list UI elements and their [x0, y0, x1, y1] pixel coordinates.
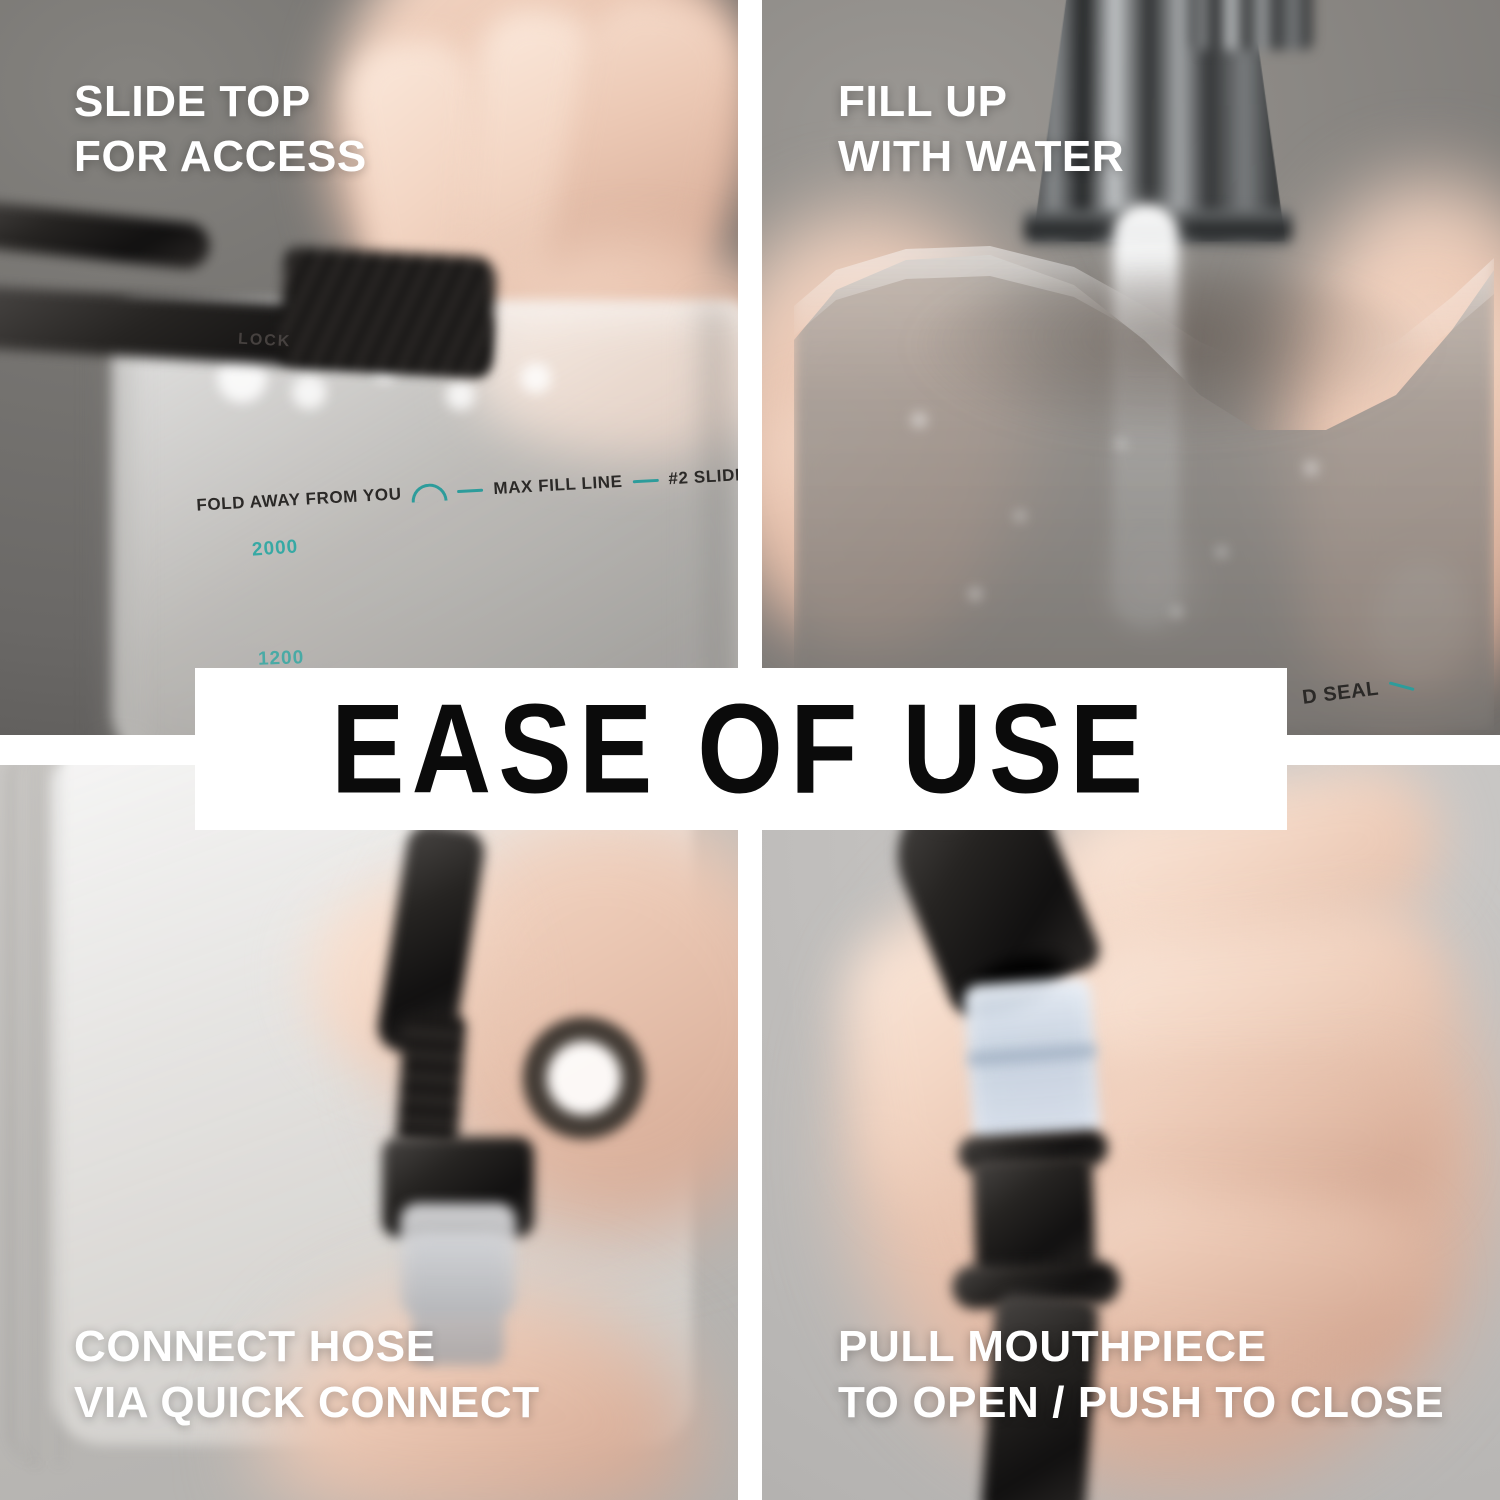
caption-slide-top-for-access: SLIDE TOP FOR ACCESS [74, 74, 367, 185]
volume-mark-2000: 2000 [251, 536, 299, 561]
reservoir-wavy-left-edge [10, 765, 82, 1465]
dash-icon [457, 488, 483, 492]
panel-pull-mouthpiece: PULL MOUTHPIECE TO OPEN / PUSH TO CLOSE [762, 765, 1500, 1500]
infographic-sheet: FOLD AWAY FROM YOU MAX FILL LINE #2 SLID… [0, 0, 1500, 1500]
hose-fitting [972, 1155, 1096, 1279]
caption-pull-mouthpiece: PULL MOUTHPIECE TO OPEN / PUSH TO CLOSE [838, 1319, 1444, 1430]
quick-connect-barb [396, 1013, 467, 1147]
reservoir-left-edge [106, 320, 136, 735]
panel-slide-top-for-access: FOLD AWAY FROM YOU MAX FILL LINE #2 SLID… [0, 0, 738, 735]
dash-icon [1389, 681, 1415, 691]
slide-lock-grip [279, 247, 497, 376]
arc-icon [411, 483, 448, 503]
panel-connect-hose: 800 600 400 200 Volume Approximation CON… [0, 765, 738, 1500]
caption-connect-hose: CONNECT HOSE VIA QUICK CONNECT [74, 1319, 540, 1430]
banner-title: EASE OF USE [331, 685, 1150, 812]
caption-fill-up-with-water: FILL UP WITH WATER [838, 74, 1124, 185]
reservoir-speckles [852, 360, 1412, 660]
panel-fill-up-with-water: D SEAL FILL UP WITH WATER [762, 0, 1500, 735]
dash-icon [632, 478, 658, 482]
reservoir-edge-line-3 [58, 765, 60, 1465]
reservoir-edge-line-2 [34, 765, 36, 1465]
faucet-neck [1192, 0, 1312, 50]
center-banner: EASE OF USE [195, 668, 1287, 830]
lock-emboss-text: LOCK [238, 331, 292, 352]
